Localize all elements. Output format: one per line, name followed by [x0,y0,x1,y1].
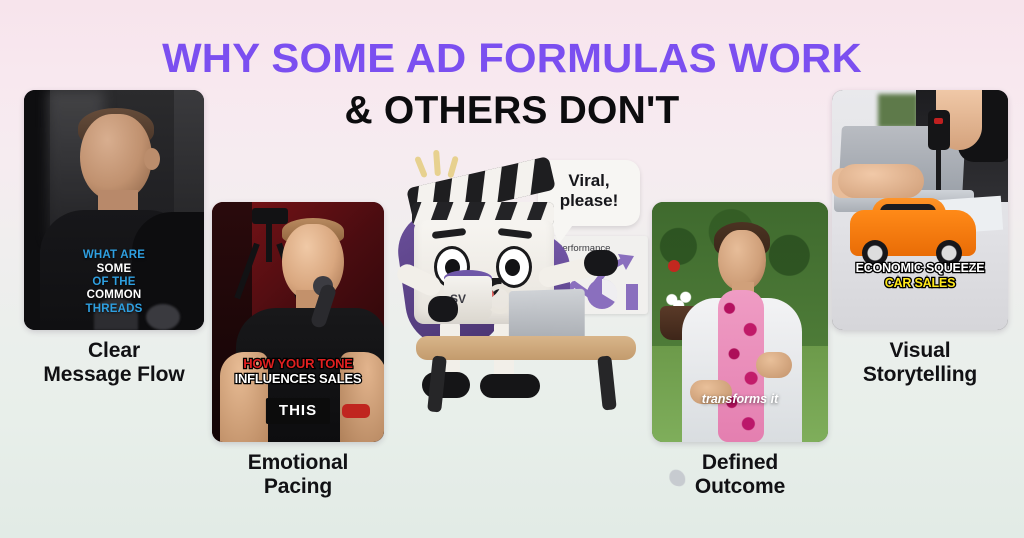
card-label-line2: Pacing [212,475,384,499]
car-key-icon [928,110,950,150]
caption-line: SOME [24,263,204,276]
card-thumbnail[interactable]: ECONOMIC SQUEEZE CAR SALES [832,90,1008,330]
card-label-line1: Clear [24,339,204,363]
mascot-hand [428,296,458,322]
thumbnail-scene [832,90,1008,330]
card-label-line2: Outcome [652,475,828,499]
person-hand [838,164,924,198]
scene-prop [878,94,918,128]
card-label: Defined Outcome [652,451,828,498]
card-label-line1: Defined [652,451,828,475]
card-defined-outcome[interactable]: transforms it Defined Outcome [652,202,828,498]
card-label-line2: Storytelling [832,363,1008,387]
caption-line: ECONOMIC SQUEEZE [832,261,1008,276]
card-label-line2: Message Flow [24,363,204,387]
card-label: Visual Storytelling [832,339,1008,386]
card-label: Clear Message Flow [24,339,204,386]
card-thumbnail[interactable]: HOW YOUR TONE INFLUENCES SALES THIS [212,202,384,442]
table-leg [427,355,447,412]
card-emotional-pacing[interactable]: HOW YOUR TONE INFLUENCES SALES THIS Emot… [212,202,384,498]
video-caption-overlay: HOW YOUR TONE INFLUENCES SALES [212,356,384,386]
thumbnail-scene [652,202,828,442]
video-caption-overlay: WHAT ARE SOME OF THE COMMON THREADS [24,249,204,316]
person-head [80,114,152,200]
slide-canvas: WHY SOME AD FORMULAS WORK & OTHERS DON'T… [0,0,1024,538]
person-hand [756,352,792,378]
card-visual-storytelling[interactable]: ECONOMIC SQUEEZE CAR SALES Visual Storyt… [832,90,1008,386]
caption-line: CAR SALES [832,276,1008,291]
caption-badge: THIS [266,398,330,424]
card-clear-message-flow[interactable]: WHAT ARE SOME OF THE COMMON THREADS Clea… [24,90,204,386]
mascot-eyebrow [498,228,533,239]
mascot-hand [584,250,618,276]
caption-line: INFLUENCES SALES [212,371,384,386]
sparkle-icon [414,156,428,179]
card-label-line1: Visual [832,339,1008,363]
caption-line: WHAT ARE [24,249,204,262]
sparkle-icon [447,156,459,179]
mascot-pupil [505,259,520,276]
caption-line: COMMON [24,289,204,302]
card-thumbnail[interactable]: WHAT ARE SOME OF THE COMMON THREADS [24,90,204,330]
person-head [718,230,766,290]
table-leg [597,355,617,410]
card-label-line1: Emotional [212,451,384,475]
caption-line: THREADS [24,303,204,316]
person-ear [144,148,160,170]
card-label: Emotional Pacing [212,451,384,498]
mascot-eyebrow [432,228,467,239]
mascot-shoe [480,374,540,398]
title-line-primary: WHY SOME AD FORMULAS WORK [0,38,1024,79]
caption-line: transforms it [652,392,828,407]
car-key-icon [936,148,941,190]
caption-line: OF THE [24,276,204,289]
video-caption-overlay: transforms it [652,392,828,407]
video-caption-overlay: ECONOMIC SQUEEZE CAR SALES [832,261,1008,290]
caption-line: HOW YOUR TONE [212,356,384,371]
mascot-illustration: Performance Viral, please! [388,150,668,430]
card-thumbnail[interactable]: transforms it [652,202,828,442]
scene-prop [668,260,680,272]
car-key-button [934,118,943,124]
sparkle-icon [433,150,441,176]
wristwatch [342,404,370,418]
